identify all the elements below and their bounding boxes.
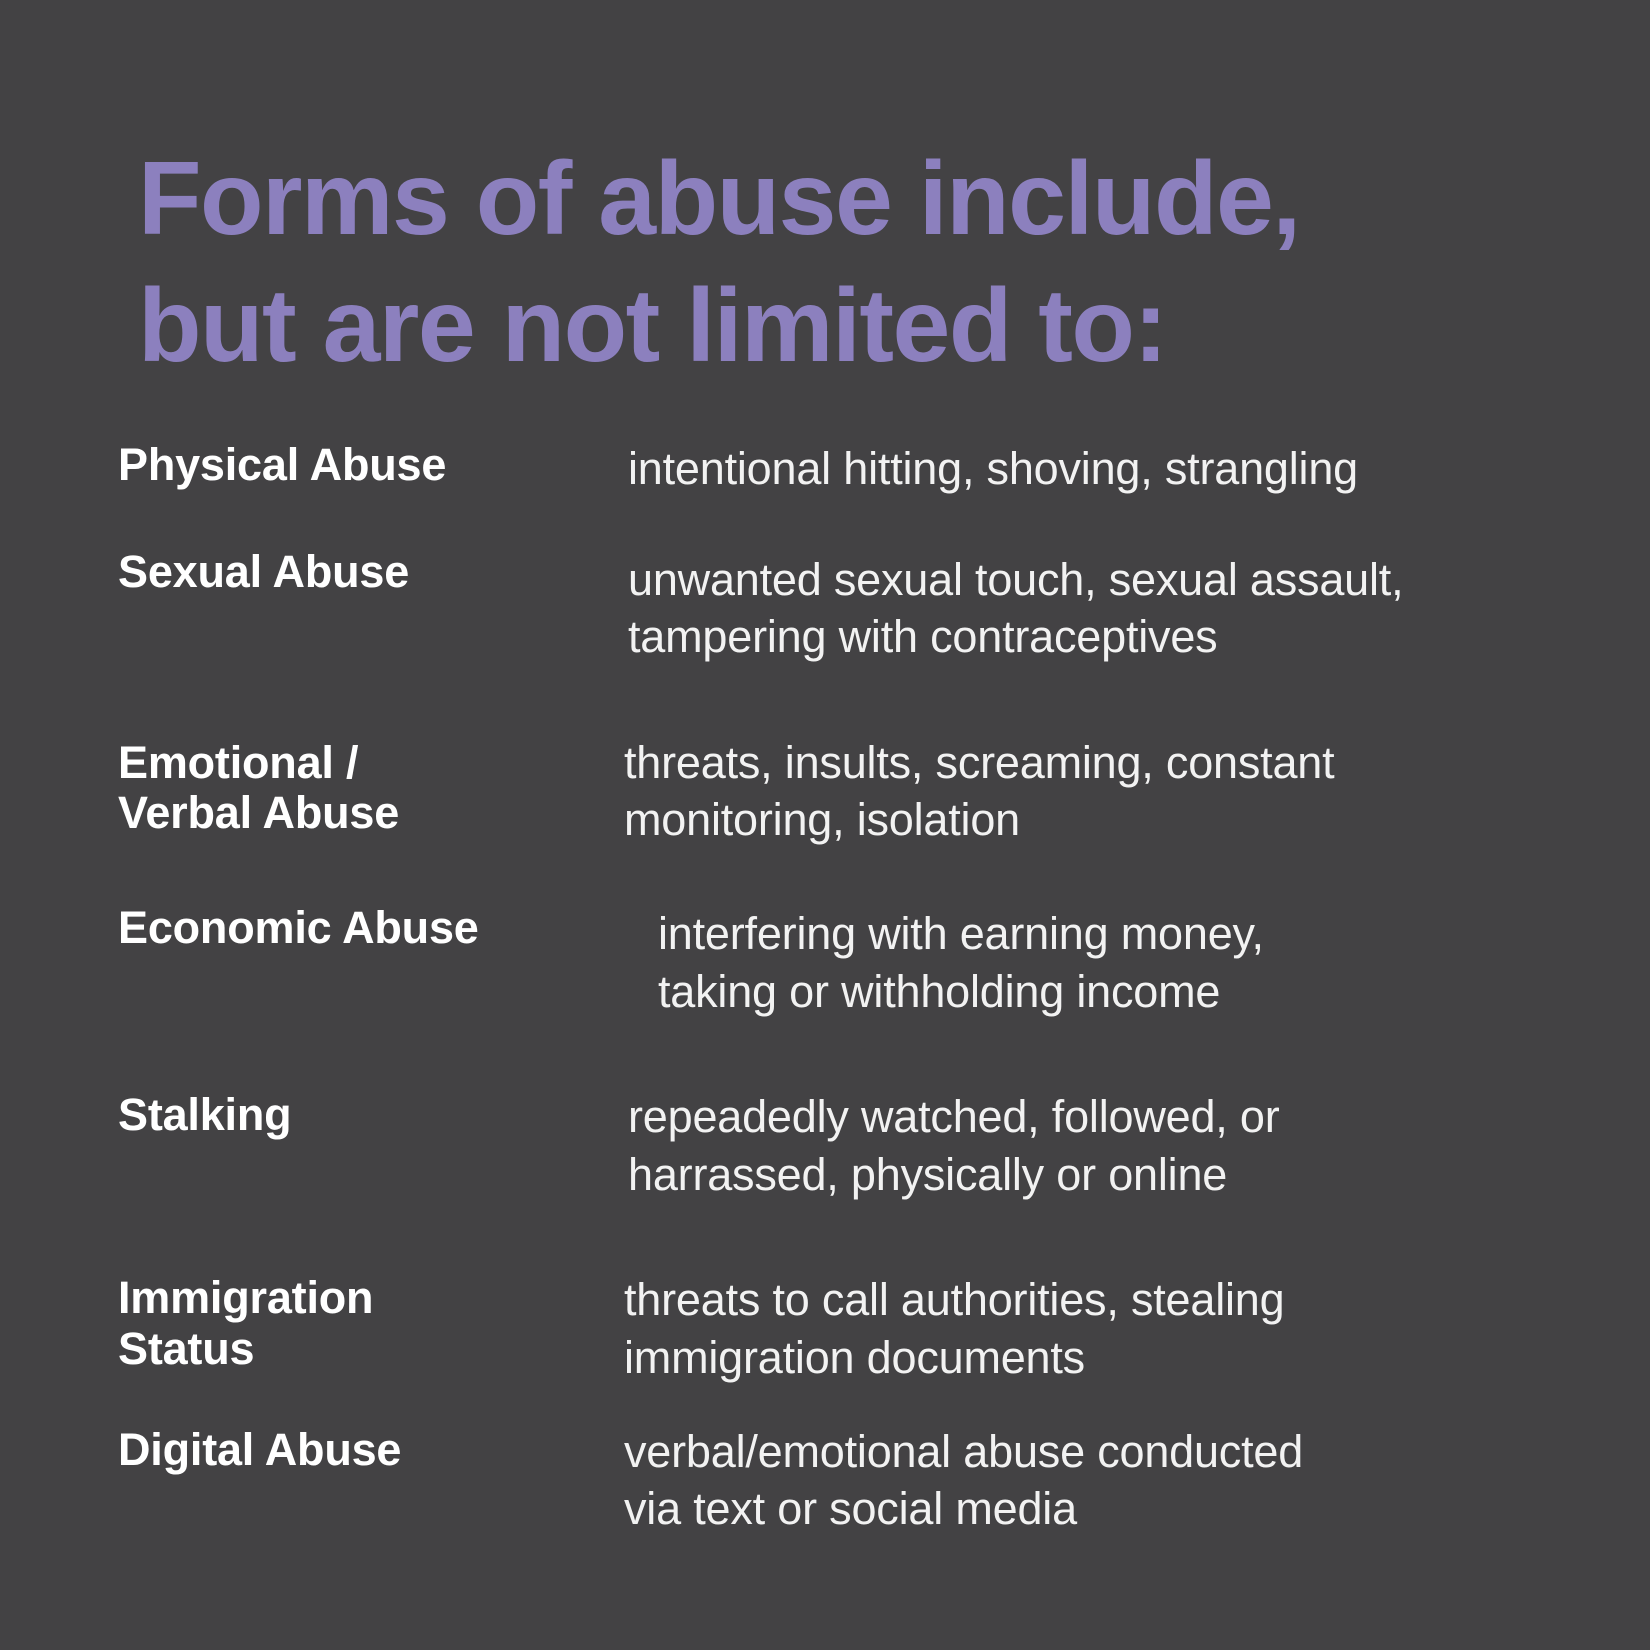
list-item-description: verbal/emotional abuse conducted via tex… [624,1423,1590,1538]
poster-canvas: Forms of abuse include, but are not limi… [0,0,1650,1650]
list-item-label: Physical Abuse [118,440,610,490]
page-title: Forms of abuse include, but are not limi… [138,136,1558,390]
list-item: Digital Abuse verbal/emotional abuse con… [0,1423,1650,1538]
list-item: Physical Abuse intentional hitting, shov… [0,440,1650,498]
list-item-label: Immigration Status [118,1273,610,1374]
list-item: Economic Abuse interfering with earning … [0,905,1650,1020]
list-item-description: unwanted sexual touch, sexual assault, t… [628,551,1590,666]
list-item: Sexual Abuse unwanted sexual touch, sexu… [0,551,1650,666]
list-item: Emotional / Verbal Abuse threats, insult… [0,734,1650,849]
list-item-label: Stalking [118,1090,610,1140]
page-title-line-1: Forms of abuse include, [138,136,1558,263]
list-item-description: threats, insults, screaming, constant mo… [624,734,1590,849]
list-item-label: Emotional / Verbal Abuse [118,738,610,839]
list-item-description: interfering with earning money, taking o… [658,905,1590,1020]
list-item-label: Economic Abuse [118,903,610,953]
list-item-description: repeadedly watched, followed, or harrass… [628,1088,1590,1203]
list-item: Stalking repeadedly watched, followed, o… [0,1088,1650,1203]
list-item-description: threats to call authorities, stealing im… [624,1271,1590,1386]
list-item: Immigration Status threats to call autho… [0,1271,1650,1386]
list-item-label: Digital Abuse [118,1425,610,1475]
abuse-forms-list: Physical Abuse intentional hitting, shov… [0,440,1650,1538]
list-item-label: Sexual Abuse [118,547,610,597]
list-item-description: intentional hitting, shoving, strangling [628,440,1590,498]
page-title-line-2: but are not limited to: [138,263,1558,390]
